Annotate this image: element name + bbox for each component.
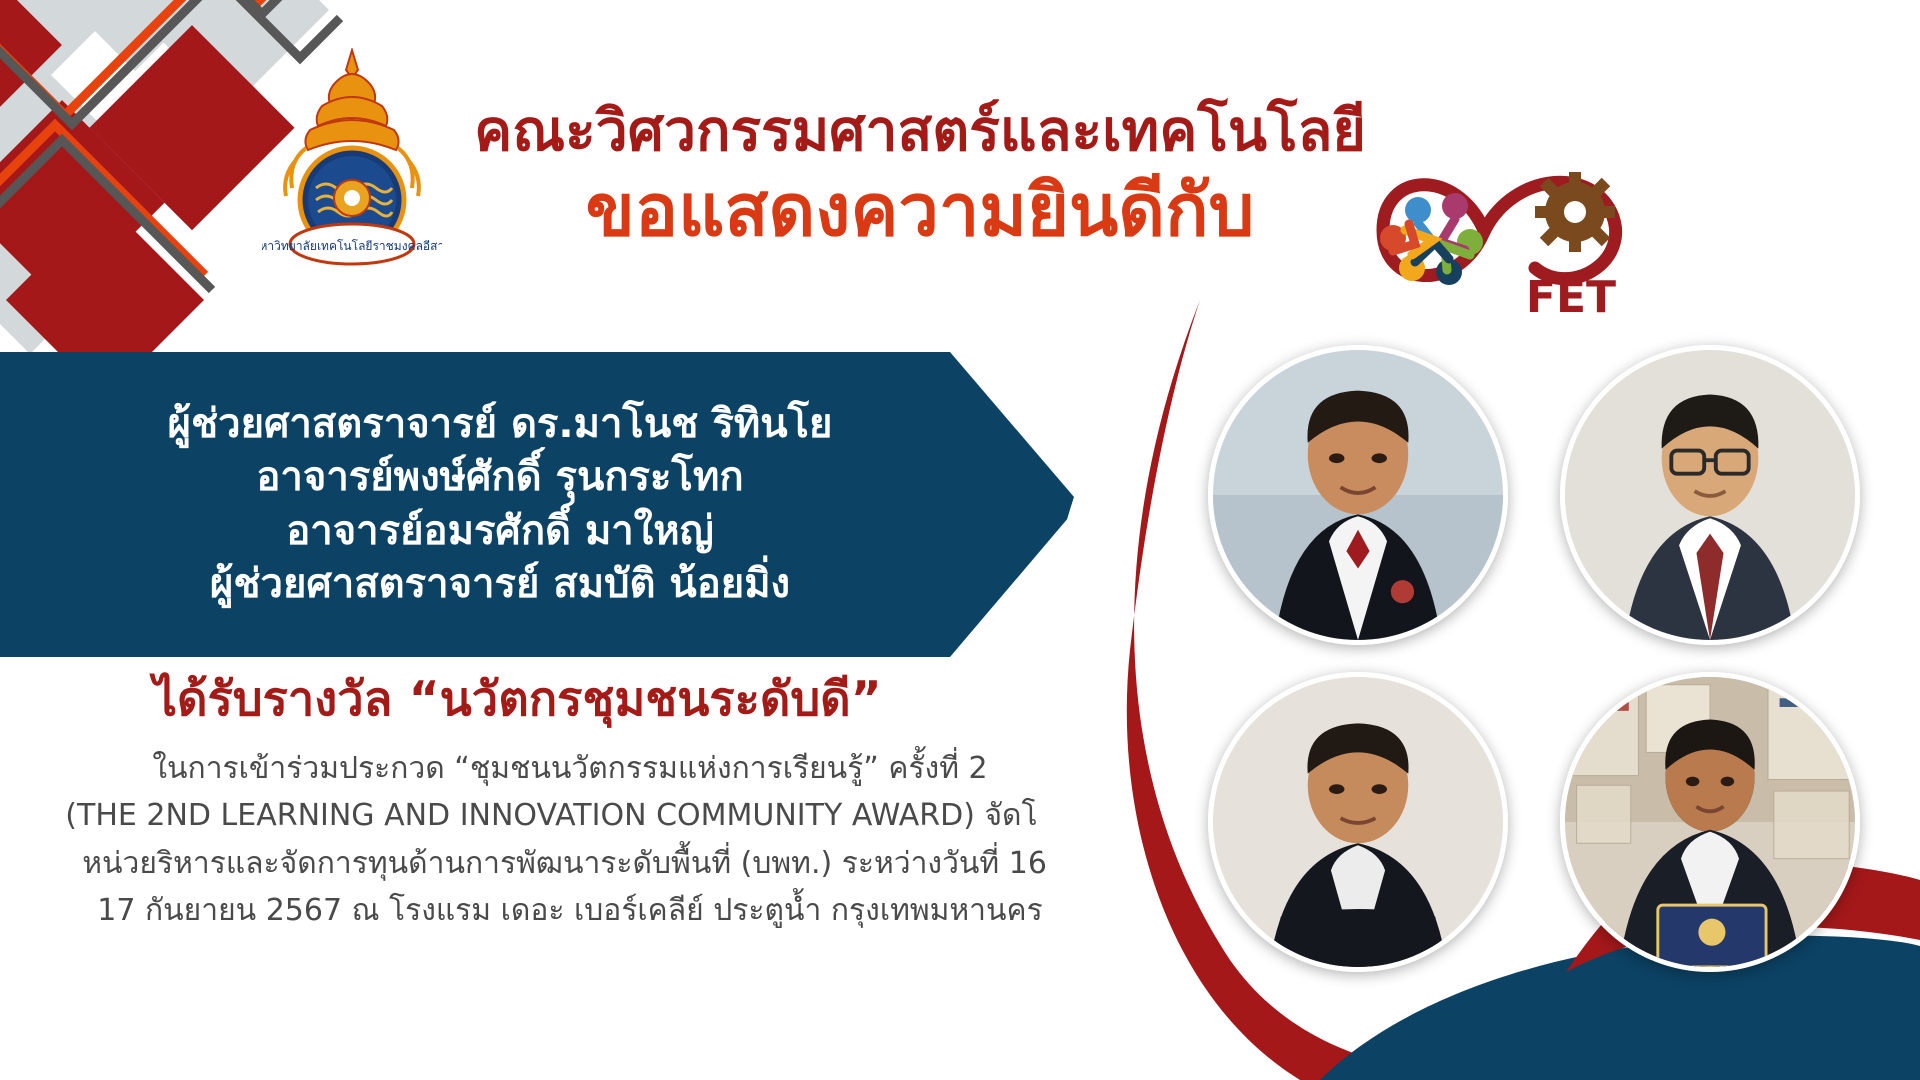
gear-icon — [1535, 172, 1615, 252]
congratulation-line: ขอแสดงความยินดีกับ — [470, 168, 1370, 253]
description-line: (THE 2ND LEARNING AND INNOVATION COMMUNI… — [0, 792, 1140, 839]
description-line: 17 กันยายน 2567 ณ โรงแรม เดอะ เบอร์เคลีย… — [0, 887, 1140, 934]
honoree-name: ผู้ช่วยศาสตราจารย์ สมบัติ น้อยมิ่ง — [210, 559, 790, 610]
honorees-banner: ผู้ช่วยศาสตราจารย์ ดร.มาโนช ริทินโย อาจา… — [0, 352, 1090, 657]
photo-honoree-4 — [1560, 672, 1860, 972]
description-line: หน่วยริหารและจัดการทุนด้านการพัฒนาระดับพ… — [0, 840, 1140, 887]
poster-canvas: มหาวิทยาลัยเทคโนโลยีราชมงคลอีสาน คณะวิศว… — [0, 0, 1920, 1080]
photo-honoree-3 — [1208, 672, 1508, 972]
photo-honoree-1 — [1208, 345, 1508, 645]
honoree-name: อาจารย์พงษ์ศักดิ์ รุนกระโทก — [256, 452, 743, 503]
faculty-title-line: คณะวิศวกรรมศาสตร์และเทคโนโลยี — [470, 100, 1370, 164]
photo-honoree-2 — [1560, 345, 1860, 645]
description-line: ในการเข้าร่วมประกวด “ชุมชนนวัตกรรมแห่งกา… — [0, 745, 1140, 792]
award-description: ในการเข้าร่วมประกวด “ชุมชนนวัตกรรมแห่งกา… — [0, 745, 1140, 935]
award-title: ได้รับรางวัล “นวัตกรชุมชนระดับดี” — [0, 672, 1035, 728]
university-seal-icon: มหาวิทยาลัยเทคโนโลยีราชมงคลอีสาน — [262, 48, 442, 283]
honoree-name: ผู้ช่วยศาสตราจารย์ ดร.มาโนช ริทินโย — [168, 399, 833, 450]
seal-ribbon-text: มหาวิทยาลัยเทคโนโลยีราชมงคลอีสาน — [262, 239, 442, 253]
header-text-block: คณะวิศวกรรมศาสตร์และเทคโนโลยี ขอแสดงความ… — [470, 100, 1370, 253]
honoree-name: อาจารย์อมรศักดิ์ มาใหญ่ — [286, 506, 714, 557]
honoree-name-list: ผู้ช่วยศาสตราจารย์ ดร.มาโนช ริทินโย อาจา… — [0, 352, 1010, 657]
